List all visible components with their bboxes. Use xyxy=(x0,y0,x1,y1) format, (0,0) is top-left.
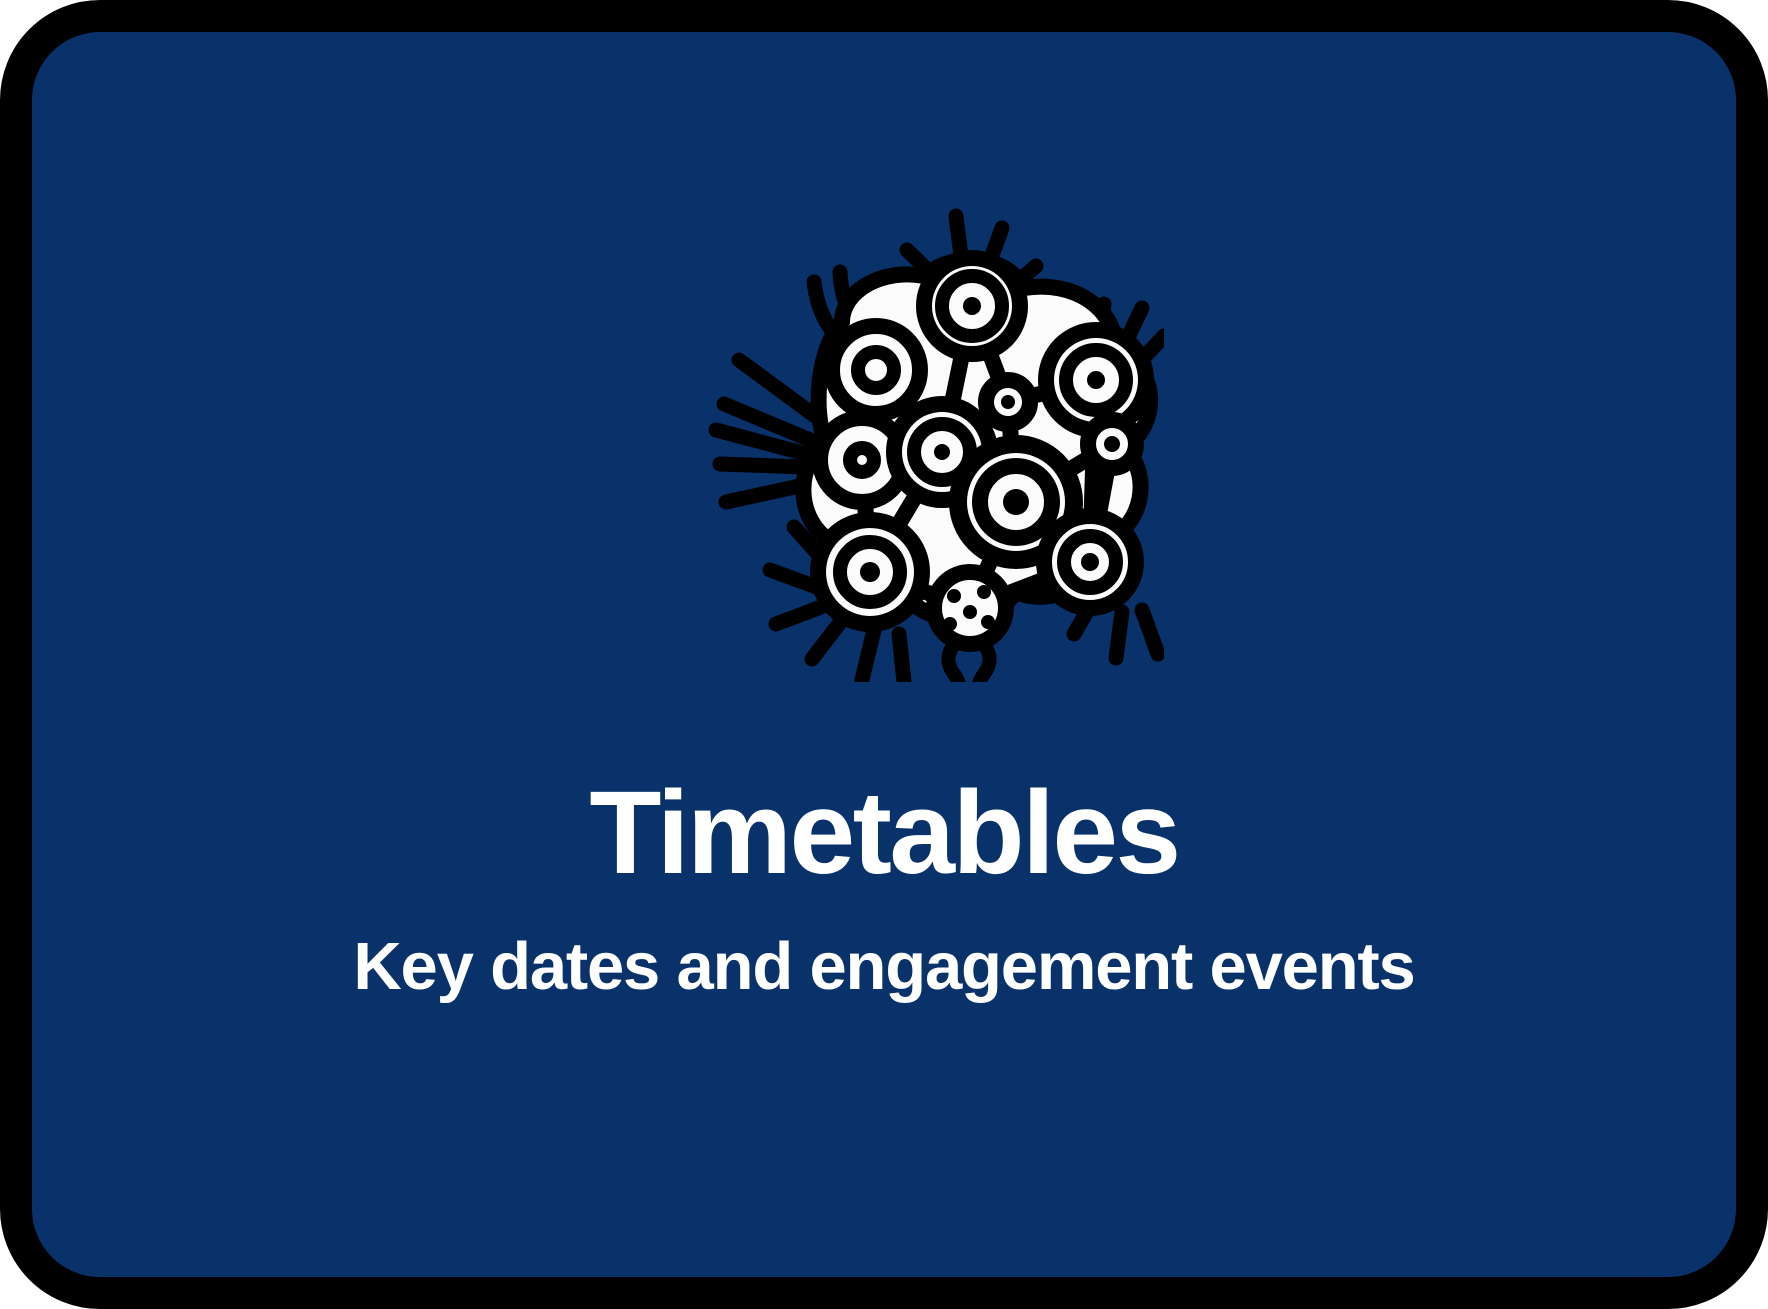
node-bottom-dotted xyxy=(934,572,1006,644)
network-brain-icon xyxy=(604,172,1164,682)
node-right-small xyxy=(1088,420,1136,468)
illustration-container xyxy=(32,172,1736,682)
node-upper-right xyxy=(1046,330,1146,430)
node-lower-right xyxy=(1044,516,1136,608)
node-tiny-center xyxy=(986,380,1030,424)
node-upper-left xyxy=(832,326,920,414)
page-title: Timetables xyxy=(72,772,1696,896)
timetables-card[interactable]: Timetables Key dates and engagement even… xyxy=(0,0,1768,1309)
page-subtitle: Key dates and engagement events xyxy=(72,930,1696,1004)
node-top xyxy=(924,258,1020,354)
card-text-block: Timetables Key dates and engagement even… xyxy=(32,772,1736,1004)
node-lower-left xyxy=(818,520,922,624)
